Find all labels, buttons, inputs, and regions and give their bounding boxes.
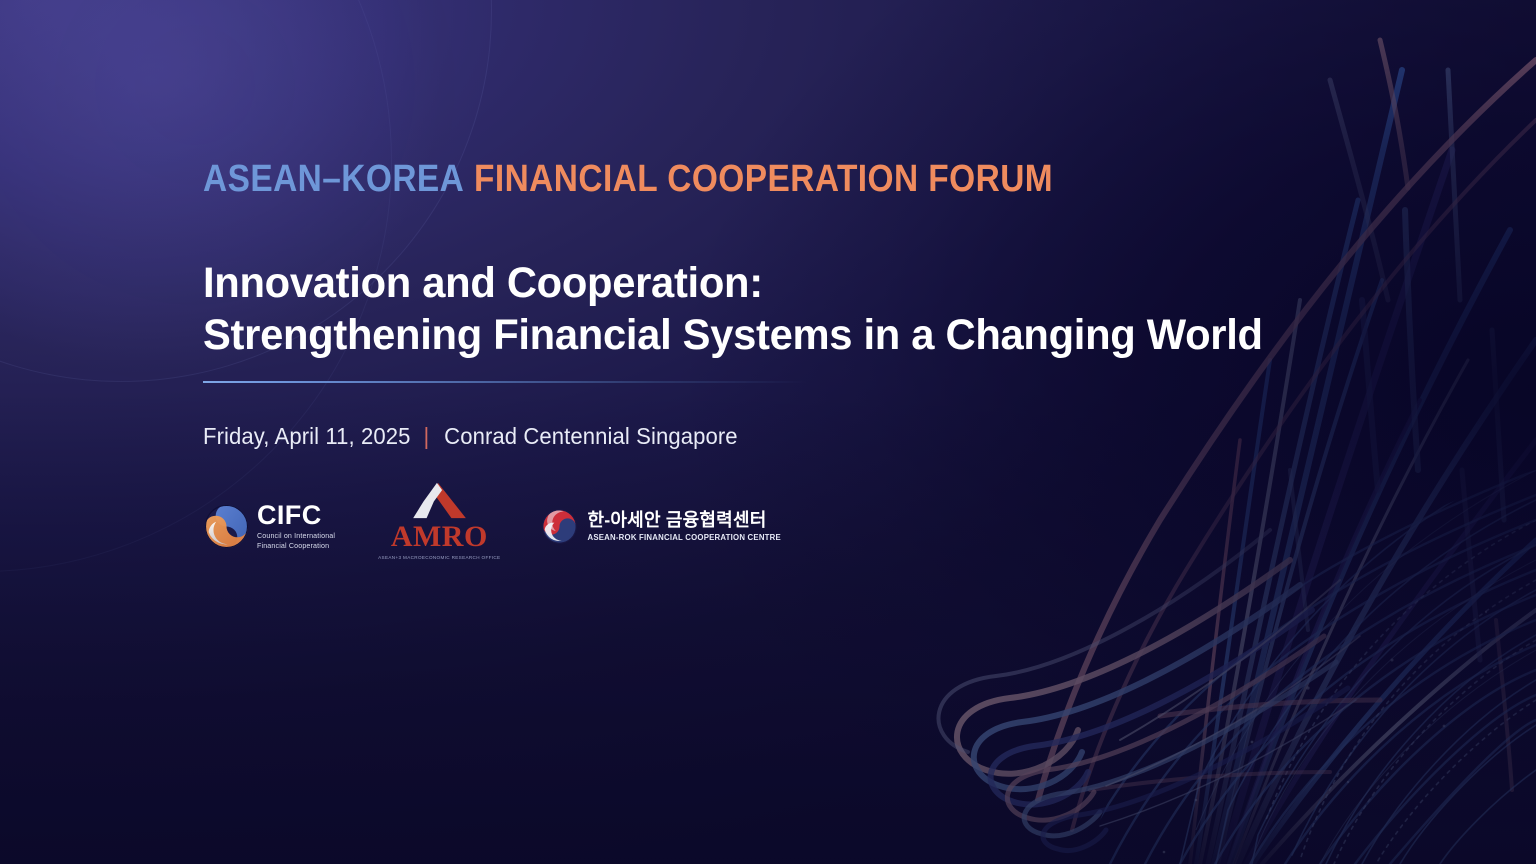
cifc-subtitle: Council on International Financial Coope… — [257, 532, 335, 552]
amro-subtitle: ASEAN+3 MACROECONOMIC RESEARCH OFFICE — [378, 555, 500, 560]
meta-separator: | — [423, 423, 429, 449]
cifc-subtitle-line-2: Financial Cooperation — [257, 542, 335, 552]
cifc-name: CIFC — [257, 502, 335, 529]
cifc-swirl-icon — [203, 503, 250, 550]
logo-cifc: CIFC Council on International Financial … — [203, 502, 335, 552]
asean-rok-subtitle: ASEAN-ROK FINANCIAL COOPERATION CENTRE — [587, 533, 780, 542]
amro-chevron-icon — [408, 481, 470, 520]
event-venue: Conrad Centennial Singapore — [444, 423, 738, 449]
forum-eyebrow-title: ASEAN–KOREA FINANCIAL COOPERATION FORUM — [203, 160, 1053, 198]
forum-poster: ASEAN–KOREA FINANCIAL COOPERATION FORUM … — [0, 0, 1536, 864]
logo-amro: AMRO ASEAN+3 MACROECONOMIC RESEARCH OFFI… — [378, 481, 500, 560]
page-title: Innovation and Cooperation: Strengthenin… — [203, 257, 1263, 362]
event-date: Friday, April 11, 2025 — [203, 423, 410, 449]
event-meta: Friday, April 11, 2025 | Conrad Centenni… — [203, 423, 738, 450]
cifc-text: CIFC Council on International Financial … — [257, 502, 335, 552]
headline-line-2: Strengthening Financial Systems in a Cha… — [203, 309, 1263, 361]
divider — [203, 381, 807, 383]
poster-content: ASEAN–KOREA FINANCIAL COOPERATION FORUM … — [203, 0, 1383, 864]
amro-name: AMRO — [391, 522, 488, 552]
eyebrow-highlight: ASEAN–KOREA — [203, 158, 464, 200]
logo-asean-rok: 한-아세안 금융협력센터 ASEAN-ROK FINANCIAL COOPERA… — [541, 508, 780, 545]
asean-rok-name: 한-아세안 금융협력센터 — [587, 511, 780, 531]
logo-row: CIFC Council on International Financial … — [203, 487, 781, 566]
headline-line-1: Innovation and Cooperation: — [203, 257, 1263, 309]
cifc-subtitle-line-1: Council on International — [257, 532, 335, 542]
eyebrow-rest: FINANCIAL COOPERATION FORUM — [474, 158, 1053, 200]
taegeuk-icon — [541, 508, 578, 545]
asean-rok-text: 한-아세안 금융협력센터 ASEAN-ROK FINANCIAL COOPERA… — [587, 511, 780, 543]
